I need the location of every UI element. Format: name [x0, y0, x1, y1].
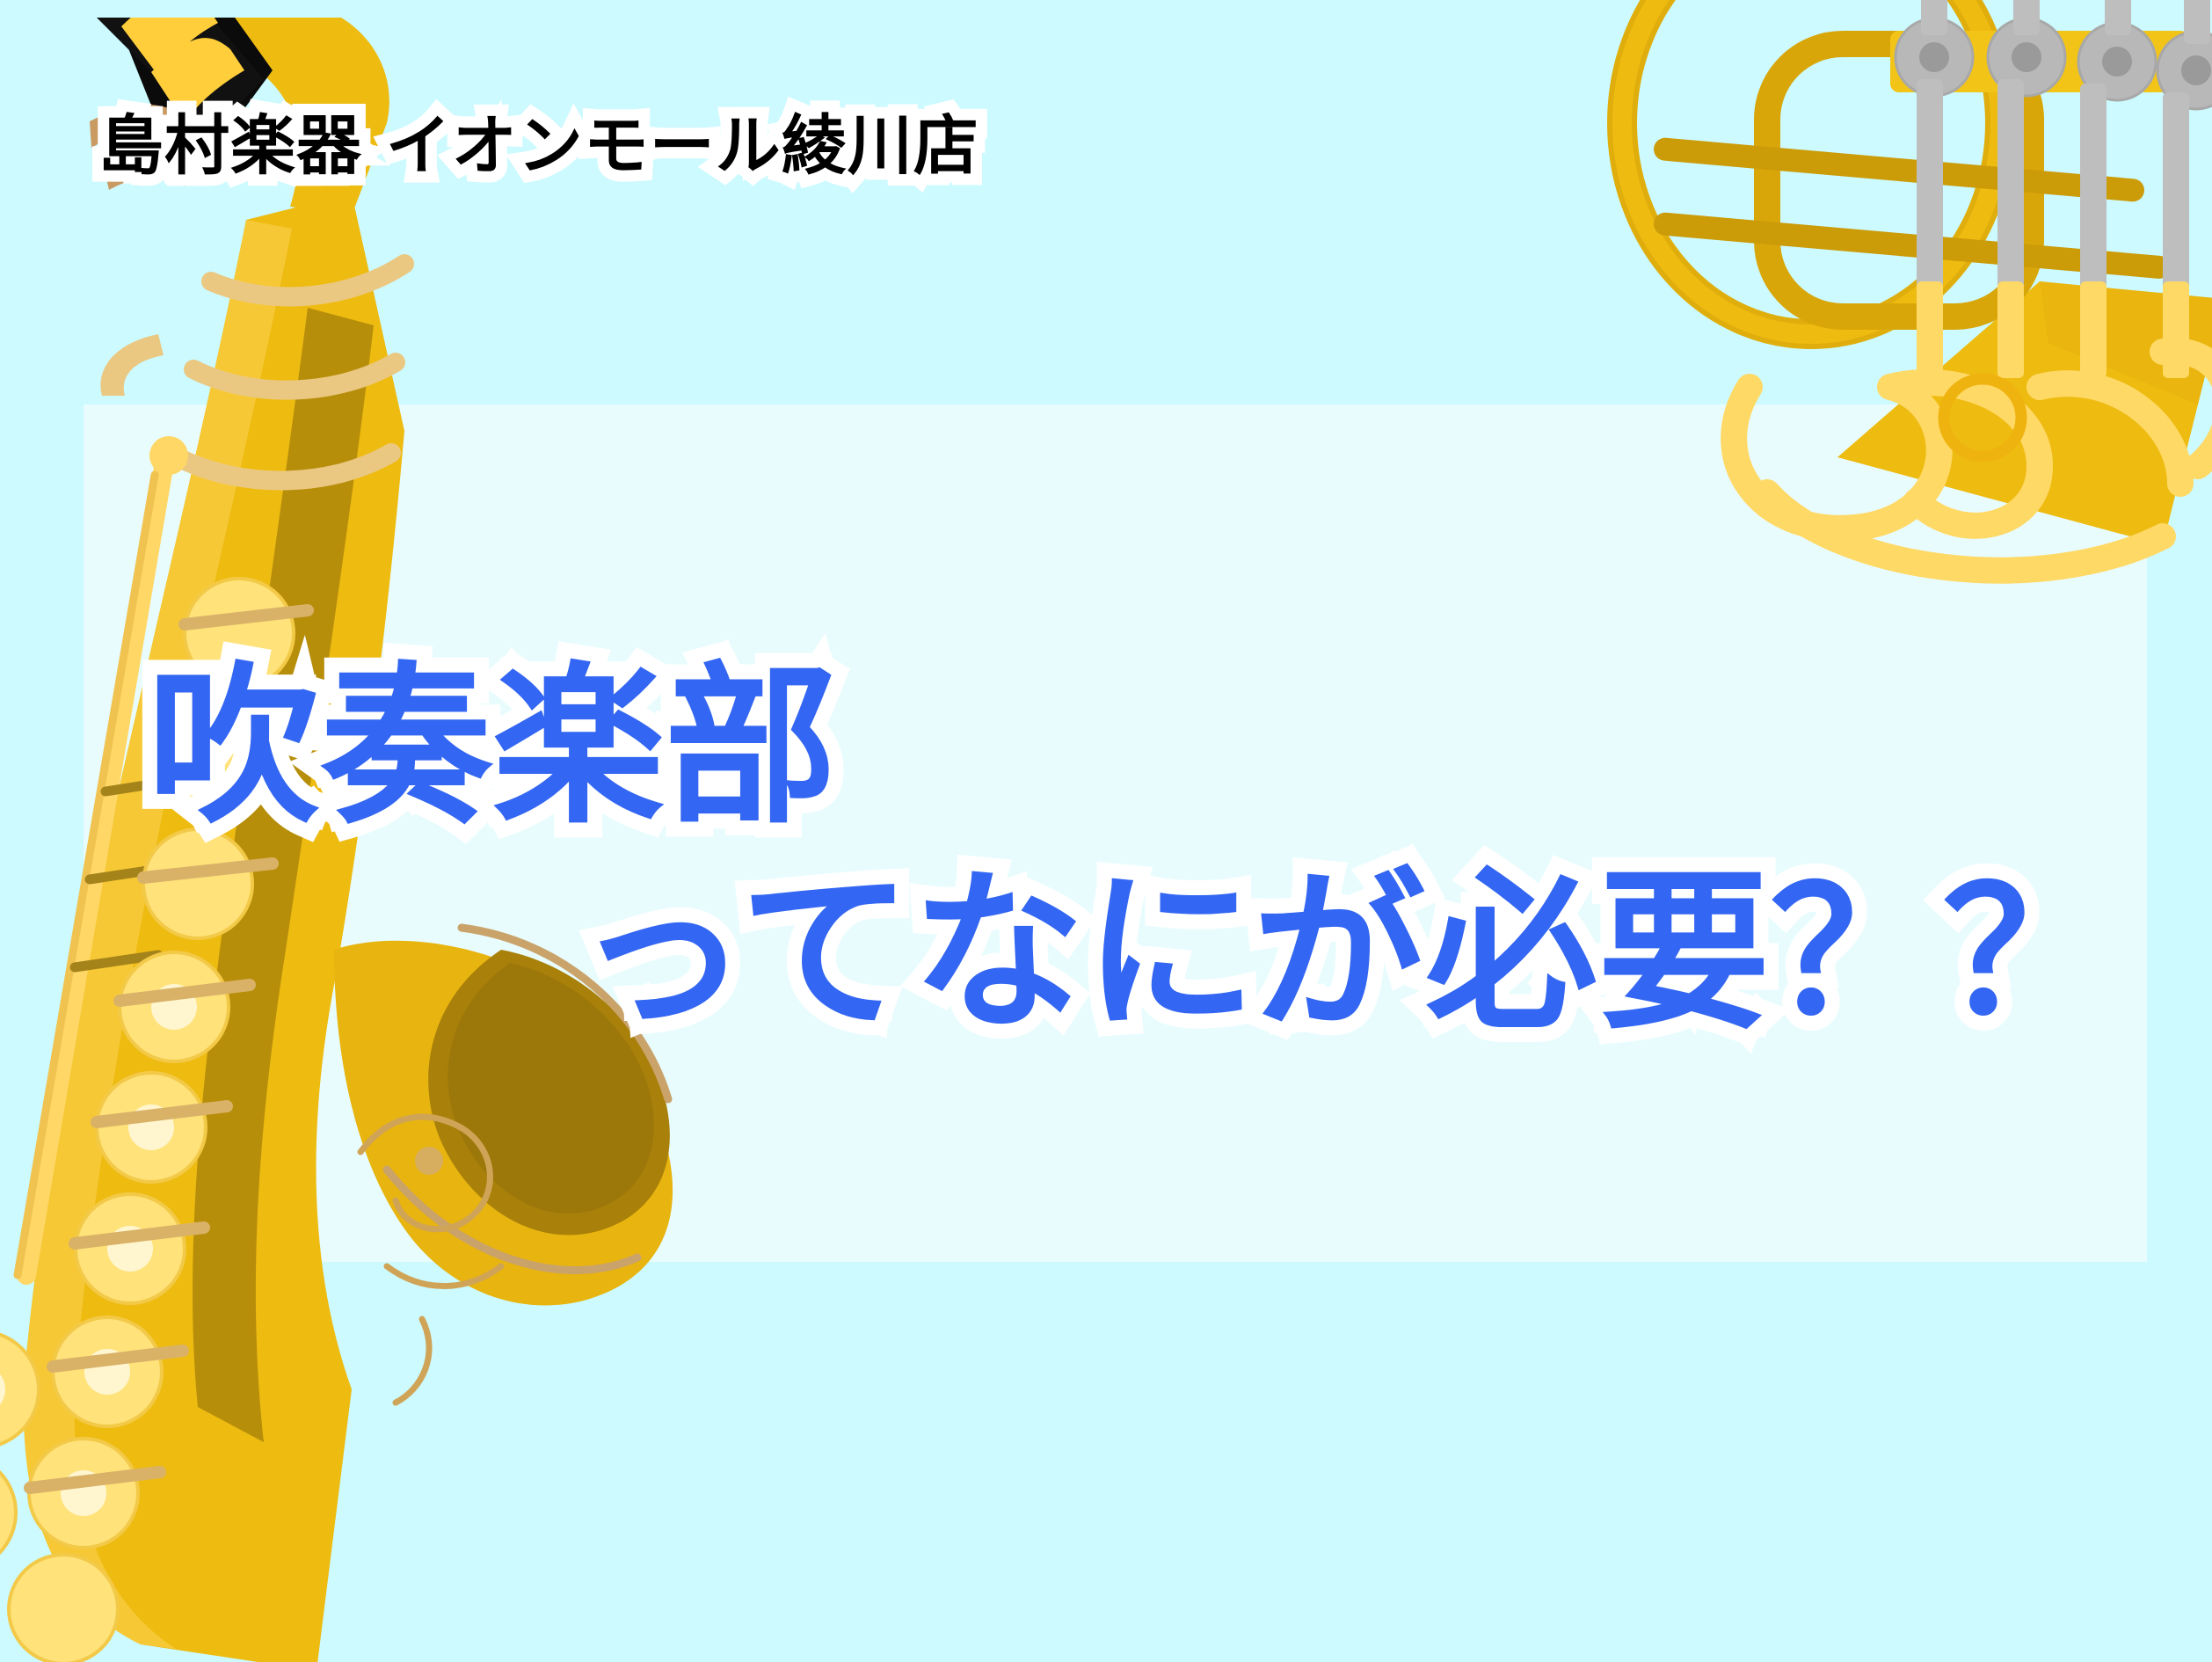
store-title: 島村楽器 イオンモール綾川店 島村楽器 イオンモール綾川店	[98, 109, 979, 184]
poster-canvas: 島村楽器 イオンモール綾川店 島村楽器 イオンモール綾川店 吹奏楽部 吹奏楽部 …	[0, 0, 2212, 1662]
headline-line-2: ってなにが必要？？ ってなにが必要？？	[576, 867, 2114, 1039]
headline-line-1-text: 吹奏楽部	[148, 647, 837, 848]
store-title-text: 島村楽器 イオンモール綾川店	[98, 108, 979, 184]
headline-line-2-text: ってなにが必要？？	[576, 853, 2114, 1053]
headline-line-1: 吹奏楽部 吹奏楽部	[148, 661, 837, 834]
